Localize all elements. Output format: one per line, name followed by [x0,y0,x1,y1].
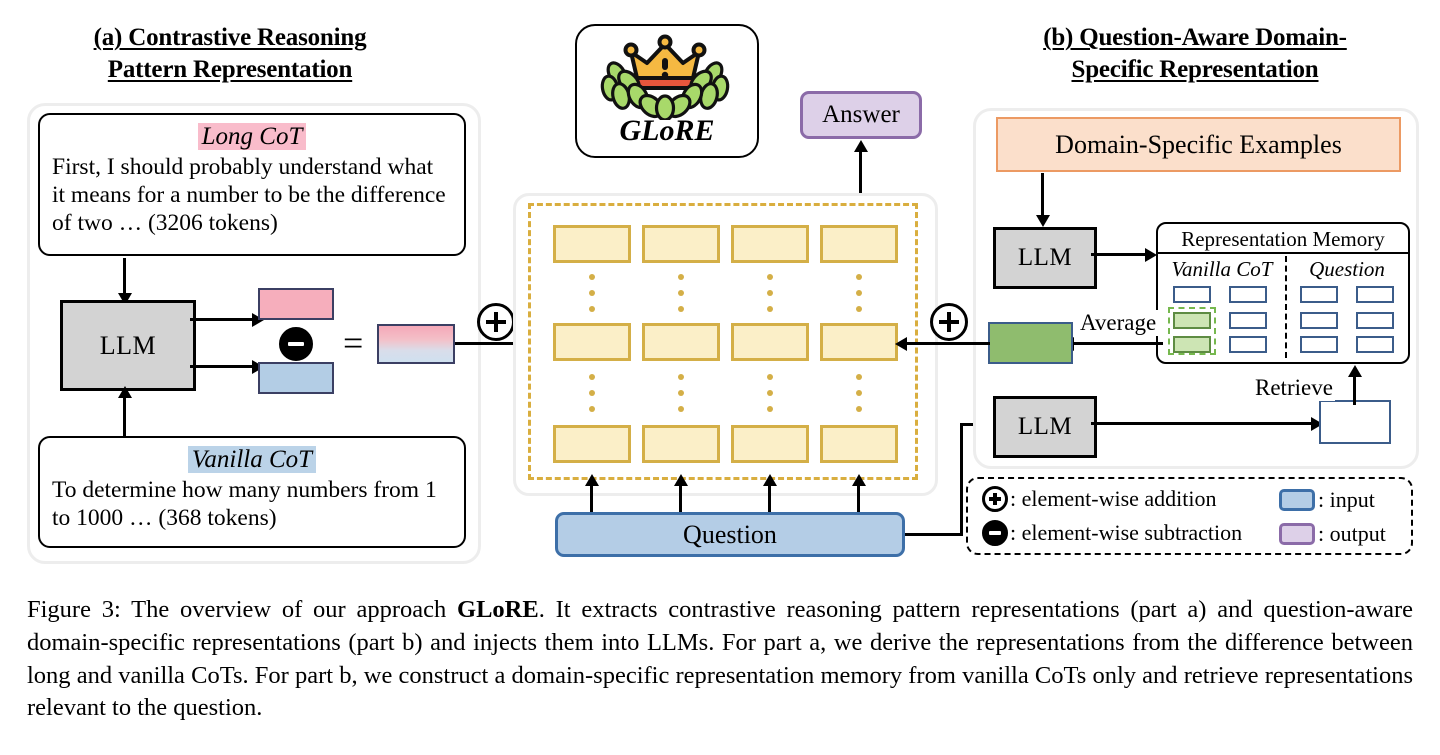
arrow-llmtop-to-memory-line [1091,253,1149,256]
vanilla-cot-tag-wrap: Vanilla CoT [52,446,452,474]
arrow-question-to-block-head [763,474,777,486]
legend-row-input: : input [1279,487,1375,513]
arrow-vanillacot-to-llm-line [123,398,126,436]
memory-cell-highlighted [1173,312,1211,329]
glore-logo-word: GLoRE [577,114,757,148]
panel-b-title: (b) Question-Aware Domain- Specific Repr… [960,22,1430,86]
transformer-block [820,225,898,263]
representation-memory-title: Representation Memory [1158,227,1408,254]
transformer-block [642,323,720,361]
representation-memory-box: Representation Memory Vanilla CoT Questi… [1156,222,1410,364]
transformer-block [731,425,809,463]
transformer-block [553,323,631,361]
minus-operator-icon [279,327,313,361]
vertical-dots [589,274,595,312]
plus-operator-left-icon [477,303,515,341]
legend-input-swatch [1279,489,1315,511]
vanilla-cot-tag: Vanilla CoT [188,446,316,473]
vertical-dots [589,374,595,412]
question-label: Question [683,520,777,550]
figure-root: (a) Contrastive Reasoning Pattern Repres… [0,0,1440,755]
caption-prefix: Figure 3: [27,596,121,623]
plus-operator-right-icon [930,303,968,341]
memory-cell-highlighted [1173,336,1211,353]
memory-cell [1356,336,1394,353]
arrow-dse-to-llm-head [1036,215,1050,227]
memory-cell [1229,336,1267,353]
transformer-block [731,225,809,263]
vertical-dots [767,274,773,312]
memory-cell [1173,286,1211,303]
long-cot-tag: Long CoT [198,123,307,150]
memory-cell [1300,286,1338,303]
question-representation-box [1319,400,1391,444]
question-box: Question [555,512,905,557]
panel-b-llm-top: LLM [993,227,1097,289]
arrow-llmbottom-to-retrievebox-line [1091,422,1315,425]
vertical-dots [678,374,684,412]
arrow-contrastive-to-plus-line [455,342,477,345]
figure-caption: Figure 3: The overview of our approach G… [27,594,1413,725]
caption-bold-term: GLoRE [457,596,539,623]
vanilla-cot-card: Vanilla CoT To determine how many number… [38,436,466,548]
arrow-vanillacot-to-llm-head [118,386,132,398]
memory-cell [1229,286,1267,303]
panel-b-llm-bottom: LLM [993,396,1097,458]
arrow-question-to-block-head [674,474,688,486]
legend-output-swatch [1279,523,1315,545]
memory-col-header-vanilla: Vanilla CoT [1162,257,1282,282]
long-cot-representation-vector [258,288,334,320]
long-cot-card: Long CoT First, I should probably unders… [38,113,466,256]
arrow-retrieve-head [1348,365,1362,377]
arrow-plus-to-stack-right-line [903,342,968,345]
memory-column-divider [1285,256,1287,358]
transformer-block [553,425,631,463]
arrow-question-to-block-line [590,486,593,514]
answer-label: Answer [822,101,900,129]
arrow-question-to-block-head [852,474,866,486]
arrow-longcot-to-llm-line [123,258,126,295]
vertical-dots [767,374,773,412]
question-to-llmb-seg-h1 [905,533,963,536]
domain-specific-examples-label: Domain-Specific Examples [1055,130,1342,160]
caption-part1: The overview of our approach [121,596,457,623]
panel-a-title-line2: Pattern Representation [30,54,430,86]
panel-b-llm-top-label: LLM [1018,244,1072,272]
arrow-retrieve-line [1353,377,1356,405]
panel-a-title: (a) Contrastive Reasoning Pattern Repres… [30,22,430,86]
arrow-question-to-block-line [768,486,771,514]
memory-cell [1300,336,1338,353]
transformer-block [820,425,898,463]
arrow-green-to-plus-line [968,342,990,345]
average-label: Average [1078,310,1158,336]
panel-b-title-line2: Specific Representation [960,54,1430,86]
transformer-block [642,225,720,263]
memory-col-header-question: Question [1288,257,1406,282]
vertical-dots [856,374,862,412]
glore-logo-card: GLoRE [575,24,759,158]
memory-cell [1300,312,1338,329]
arrow-llm-to-pink-line [190,318,257,321]
panel-b-title-line1: (b) Question-Aware Domain- [960,22,1430,54]
legend-subtraction-text: : element-wise subtraction [1010,520,1242,546]
legend-plus-icon [982,486,1008,512]
legend-addition-text: : element-wise addition [1010,486,1217,512]
arrow-llm-to-blue-line [190,365,257,368]
domain-specific-examples-box: Domain-Specific Examples [996,117,1401,172]
arrow-question-to-block-head [585,474,599,486]
memory-cell [1356,286,1394,303]
legend-minus-icon [982,520,1008,546]
vanilla-cot-representation-vector [258,362,334,394]
panel-b-llm-bottom-label: LLM [1018,413,1072,441]
transformer-block [553,225,631,263]
equals-sign: = [343,325,363,361]
arrow-average-line [1073,342,1163,345]
transformer-block [820,323,898,361]
arrow-question-to-block-line [679,486,682,514]
legend-output-text: : output [1318,521,1386,547]
legend-row-addition: : element-wise addition [982,486,1217,512]
arrow-plus-to-stack-right-head [895,337,907,351]
arrow-stack-to-answer-head [854,140,868,152]
contrastive-representation-vector [377,324,455,364]
legend-input-text: : input [1318,487,1375,513]
memory-cell [1229,312,1267,329]
legend-row-output: : output [1279,521,1386,547]
answer-box: Answer [800,91,922,139]
transformer-block [642,425,720,463]
long-cot-text: First, I should probably understand what… [52,153,452,238]
long-cot-tag-wrap: Long CoT [52,123,452,151]
vertical-dots [678,274,684,312]
arrow-dse-to-llm-line [1041,173,1044,217]
panel-a-llm-label: LLM [100,331,156,361]
legend-row-subtraction: : element-wise subtraction [982,520,1242,546]
panel-a-llm: LLM [60,300,196,391]
vertical-dots [856,274,862,312]
retrieve-label: Retrieve [1253,375,1335,401]
question-to-llmb-seg-v [960,423,963,536]
arrow-question-to-block-line [857,486,860,514]
transformer-block [731,323,809,361]
vanilla-cot-text: To determine how many numbers from 1 to … [52,476,452,532]
panel-a-title-line1: (a) Contrastive Reasoning [30,22,430,54]
crown-laurel-icon [577,30,753,120]
domain-specific-representation-vector [988,322,1073,364]
memory-cell [1356,312,1394,329]
